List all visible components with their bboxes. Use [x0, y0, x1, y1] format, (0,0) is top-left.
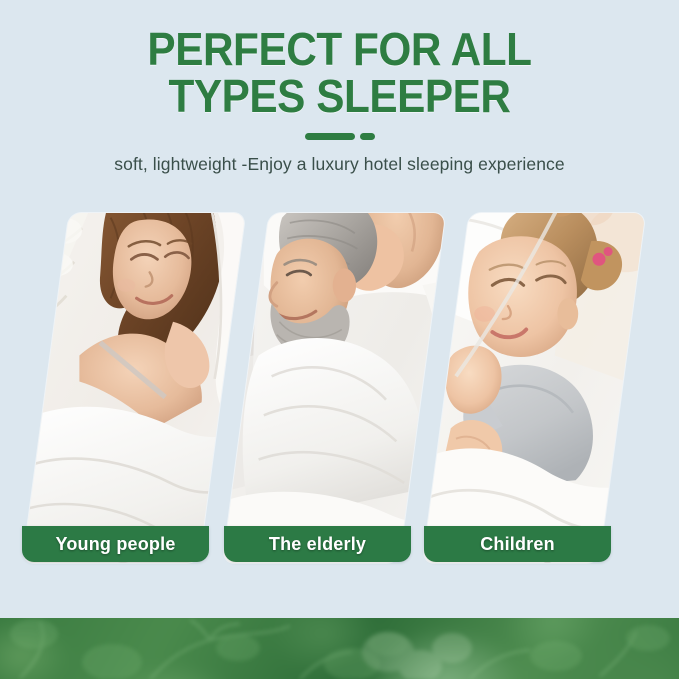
photo-children	[423, 213, 646, 563]
card-label-text: The elderly	[269, 534, 366, 555]
card-label-children[interactable]: Children	[424, 526, 611, 562]
bottom-foliage-band	[0, 618, 679, 679]
page-title: PERFECT FOR ALL TYPES SLEEPER	[27, 0, 652, 120]
card-label-text: Young people	[55, 534, 175, 555]
page-title-line-1: PERFECT FOR ALL	[27, 26, 652, 73]
card-the-elderly[interactable]	[223, 213, 446, 563]
card-young-people[interactable]	[23, 213, 246, 563]
divider-long-bar	[305, 133, 355, 140]
card-label-text: Children	[480, 534, 555, 555]
page-subtitle: soft, lightweight -Enjoy a luxury hotel …	[0, 154, 679, 175]
sleeper-type-cards: Young people The elderly Children	[0, 213, 679, 563]
card-label-the-elderly[interactable]: The elderly	[224, 526, 411, 562]
card-label-young-people[interactable]: Young people	[22, 526, 209, 562]
header-section: PERFECT FOR ALL TYPES SLEEPER soft, ligh…	[0, 0, 679, 200]
divider-short-bar	[360, 133, 375, 140]
foliage-stems-layer	[0, 618, 679, 679]
card-children[interactable]	[423, 213, 646, 563]
photo-the-elderly	[223, 213, 446, 563]
page-title-line-2: TYPES SLEEPER	[27, 73, 652, 120]
photo-young-people	[23, 213, 246, 563]
title-divider	[295, 132, 385, 140]
